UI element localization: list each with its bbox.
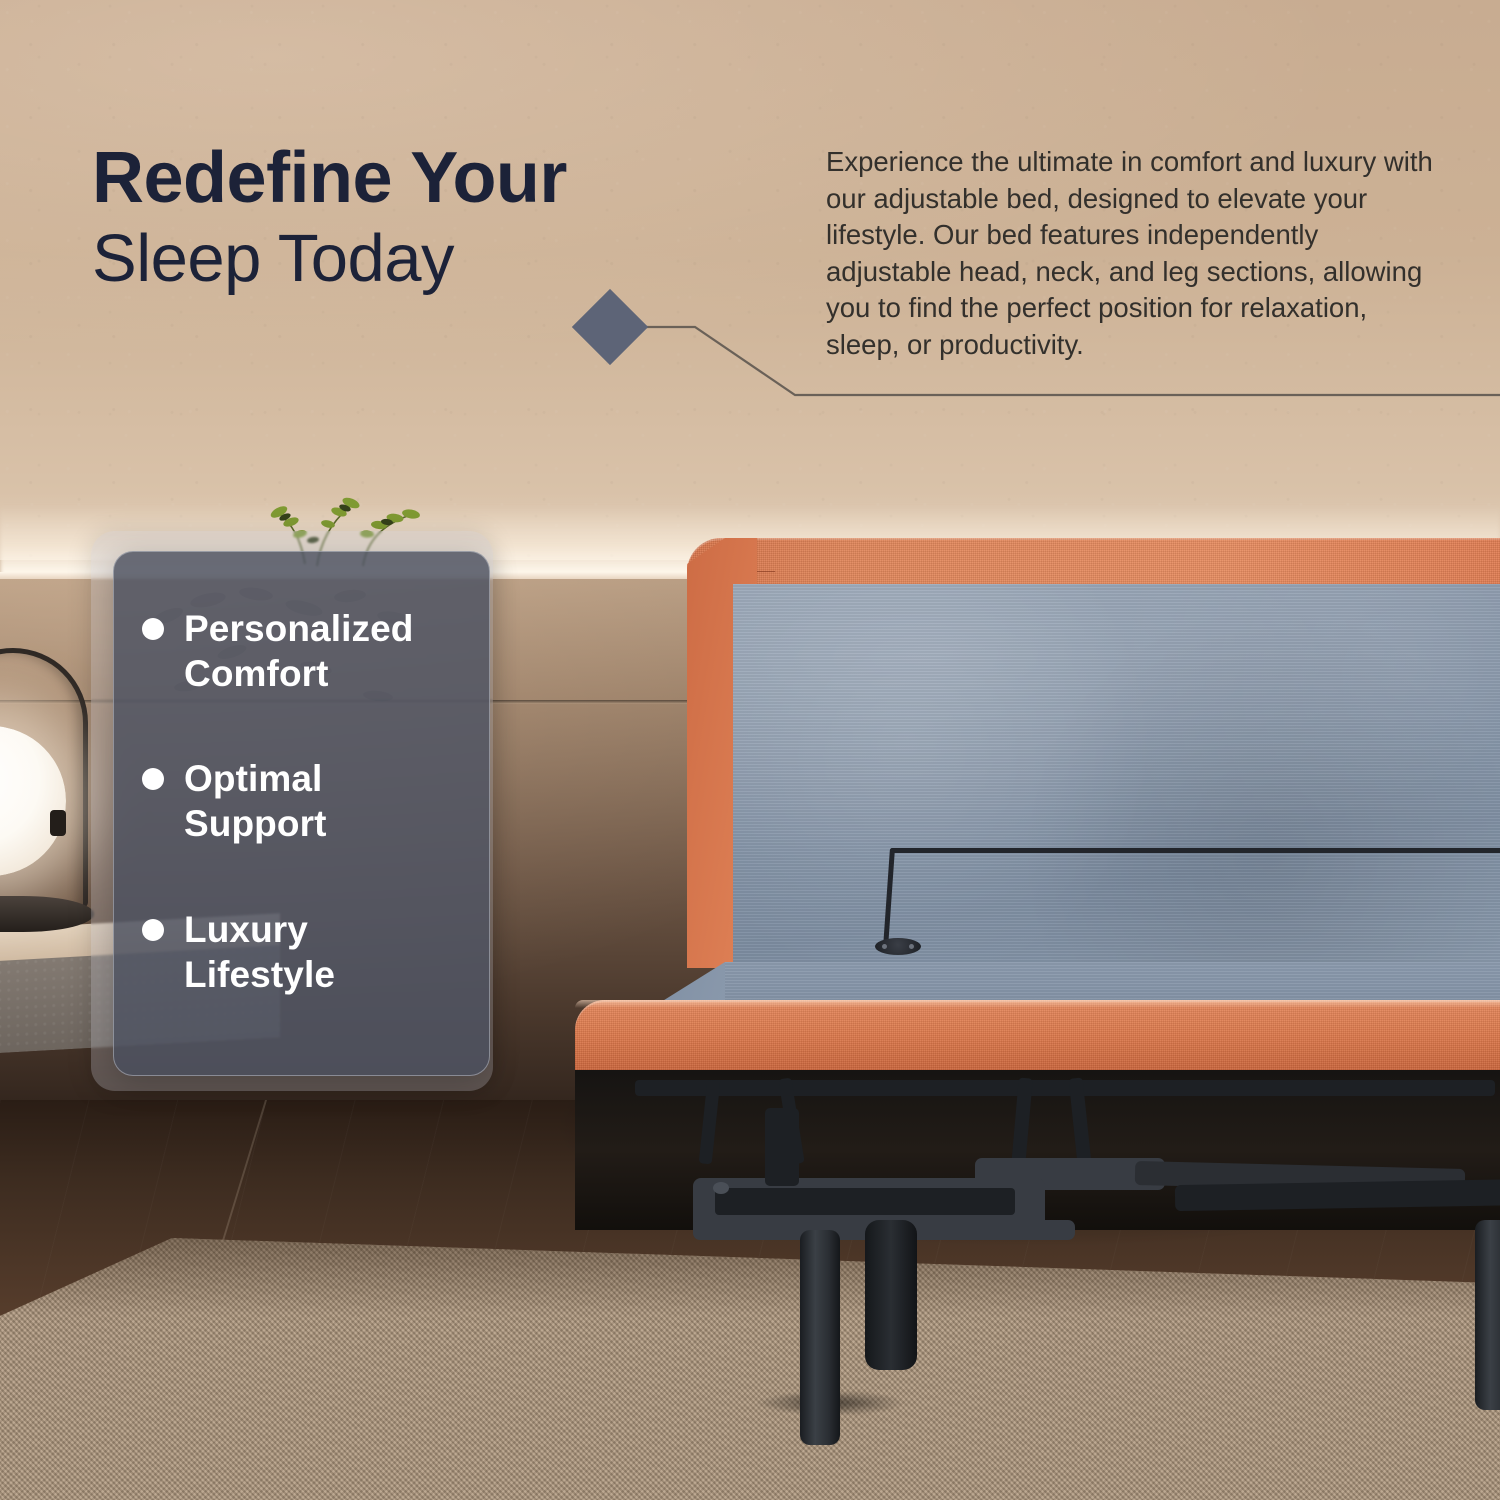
mech-cross-beam — [635, 1080, 1495, 1096]
base-rail-highlight — [575, 1000, 1500, 1008]
feature-card: Personalized Comfort Optimal Support Lux… — [113, 551, 490, 1076]
bullet-dot-icon — [142, 618, 164, 640]
list-item: Optimal Support — [142, 756, 463, 846]
retainer-mounting-plate — [875, 938, 921, 955]
table-lamp-icon — [0, 648, 88, 948]
adjustable-bed — [575, 530, 1500, 1230]
rug-shading — [0, 1238, 1500, 1500]
diamond-marker-icon — [572, 289, 648, 365]
bed-front-leg — [800, 1230, 840, 1445]
lamp-joint — [50, 810, 66, 836]
feature-label-2: Optimal Support — [184, 756, 463, 846]
feature-label-1: Personalized Comfort — [184, 606, 463, 696]
bed-right-leg — [1475, 1220, 1500, 1410]
headline-line-1: Redefine Your — [92, 142, 732, 215]
page-title: Redefine Your Sleep Today — [92, 142, 732, 294]
list-item: Luxury Lifestyle — [142, 907, 463, 997]
feature-label-3: Luxury Lifestyle — [184, 907, 463, 997]
jute-rug — [0, 1238, 1500, 1500]
mech-vertical-column — [765, 1108, 799, 1186]
feature-list: Personalized Comfort Optimal Support Lux… — [114, 552, 489, 1075]
mattress-retainer-bar — [890, 848, 1500, 944]
mech-screw-boss — [713, 1182, 729, 1194]
bed-base-rail — [575, 1000, 1500, 1078]
mech-tray-cutout — [715, 1188, 1015, 1215]
bullet-dot-icon — [142, 919, 164, 941]
bullet-dot-icon — [142, 768, 164, 790]
list-item: Personalized Comfort — [142, 606, 463, 696]
connector-line — [610, 327, 1500, 395]
bed-rear-leg — [865, 1220, 917, 1370]
retainer-horizontal — [890, 848, 1500, 853]
mech-right-rail — [1175, 1179, 1500, 1211]
bed-lift-mechanism — [575, 1070, 1500, 1270]
headline-line-2: Sleep Today — [92, 225, 732, 293]
connector-callout — [555, 285, 1500, 415]
base-rail-texture — [575, 1000, 1500, 1078]
